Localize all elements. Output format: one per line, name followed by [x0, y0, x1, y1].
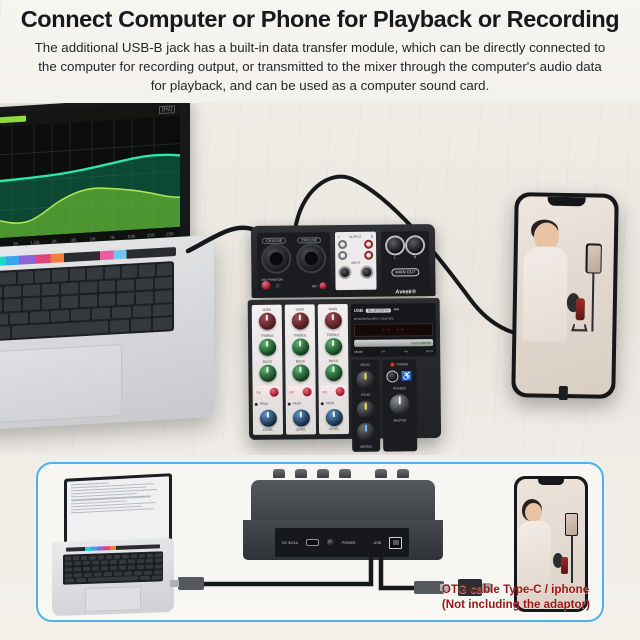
usb-strip-text: MP3/USB/SD INPUT /SUB REC	[354, 316, 433, 321]
mic-indicator	[319, 282, 326, 289]
trs-jack-r[interactable]	[360, 266, 373, 279]
main-out-label-r: R	[414, 255, 416, 259]
repeat-knob[interactable]	[357, 423, 375, 441]
knob-label: TREBLE	[320, 333, 346, 337]
peak-led-ch1	[255, 402, 258, 405]
rca-jack-in-l[interactable]	[338, 251, 347, 260]
gain-knob-ch1[interactable]	[258, 313, 275, 330]
usb-label: USB	[354, 308, 363, 313]
knob-label: BASS	[254, 360, 280, 364]
rca-connector-panel: L OUTPUT R INPUT	[335, 232, 377, 290]
phone-screen	[515, 196, 614, 395]
mixer-control-surface: GAIN TREBLE BASS FX PEAK LEVEL GAIN TREB…	[248, 298, 441, 440]
channel-strip-1: GAIN TREBLE BASS FX PEAK LEVEL	[252, 305, 283, 435]
treble-knob-ch2[interactable]	[292, 338, 309, 355]
channel-strip-2: GAIN TREBLE BASS FX PEAK LEVEL	[285, 304, 316, 434]
phantom-led	[275, 284, 279, 288]
prev-label: |<<	[381, 350, 385, 354]
echo-label: ECHO	[361, 393, 370, 397]
phones-label: PHONES	[393, 386, 406, 390]
knob-label: GAIN	[320, 307, 346, 311]
fx-button-ch1[interactable]	[270, 388, 279, 397]
knob-label: TREBLE	[287, 333, 313, 337]
power-led	[391, 362, 395, 366]
level-label: LEVEL	[288, 427, 314, 431]
delay-label: DELAY	[361, 363, 371, 367]
phone-cable-connector	[559, 386, 568, 400]
phone-stand-pole	[591, 273, 594, 331]
studio-microphone	[566, 293, 587, 341]
connection-diagram-callout: DC 5V/1A POWER USB	[36, 462, 604, 622]
mode-label: MODE	[354, 350, 362, 354]
lcd-display: -- --	[354, 323, 433, 337]
knob-label: TREBLE	[254, 334, 280, 338]
person-body	[522, 246, 568, 342]
fx-label: FX	[323, 390, 327, 394]
peak-label: PEAK	[293, 401, 302, 405]
treble-knob-ch1[interactable]	[259, 339, 276, 356]
brand-logo: Aveek®	[395, 289, 416, 295]
xlr-combo-jacks: CH1/LINE CH2/LINE 48V PHANTOM MIC	[257, 232, 331, 291]
usb-bluetooth-module: USB BLUETOOTH ⚯ MP3/USB/SD INPUT /SUB RE…	[351, 303, 437, 357]
fx-button-cell-ch3: FX	[321, 385, 347, 398]
level-label: LEVEL	[321, 427, 347, 431]
bluetooth-chip-label: BLUETOOTH	[366, 308, 391, 312]
rca-jack-out-r[interactable]	[364, 240, 373, 249]
main-out-label: MAIN OUT	[391, 268, 420, 276]
header: Connect Computer or Phone for Playback o…	[0, 0, 640, 103]
fx-label: FX	[290, 390, 294, 394]
phantom-power-button[interactable]	[261, 281, 270, 290]
otg-caption: OTG cable Type-C / iphone (Not including…	[442, 582, 590, 612]
xlr-jack-ch1[interactable]	[261, 244, 291, 274]
slot-label: miniUSB/SD	[411, 341, 431, 345]
bass-knob-ch1[interactable]	[259, 365, 276, 382]
mic-body	[576, 298, 585, 320]
lcd-value: -- --	[382, 326, 405, 333]
mic-tripod	[571, 324, 588, 331]
main-out-panel: L R MAIN OUT Aveek® F-4A	[381, 231, 430, 289]
trs-jack-l[interactable]	[338, 266, 351, 279]
person-figure	[522, 222, 570, 343]
play-label: PLAY	[426, 349, 433, 353]
level-knob-ch3[interactable]	[325, 409, 342, 426]
rca-jack-out-l[interactable]	[338, 240, 347, 249]
otg-caption-line1: OTG cable Type-C / iphone	[442, 582, 590, 597]
knob-label: BASS	[320, 359, 346, 363]
peak-label: PEAK	[260, 402, 269, 406]
smartphone-preview	[511, 192, 619, 399]
knob-label: GAIN	[254, 308, 280, 312]
usb-sd-slot[interactable]: miniUSB/SD	[354, 339, 433, 347]
level-knob-ch2[interactable]	[292, 409, 309, 426]
rca-jack-in-r[interactable]	[364, 251, 373, 260]
page-description: The additional USB-B jack has a built-in…	[30, 38, 610, 95]
level-label: LEVEL	[255, 428, 281, 432]
peak-led-ch2	[288, 402, 291, 405]
repeat-label: REPEAT	[360, 445, 372, 449]
rca-out-label: OUTPUT	[349, 235, 361, 239]
power-label: POWER	[397, 362, 408, 366]
fx-button-ch2[interactable]	[303, 387, 312, 396]
xlr-jack-ch2[interactable]	[296, 243, 326, 273]
mini-phone-on-stand	[585, 243, 602, 273]
main-out-jack-l[interactable]	[385, 235, 405, 255]
level-knob-ch1[interactable]	[259, 410, 276, 427]
delay-knob[interactable]	[356, 371, 374, 389]
treble-knob-ch3[interactable]	[325, 338, 342, 355]
fx-label: FX	[257, 390, 261, 394]
mixer-rear-connector-panel: CH1/LINE CH2/LINE 48V PHANTOM MIC L OUTP…	[251, 224, 436, 298]
fx-button-cell-ch1: FX	[255, 386, 281, 399]
phone-notch	[548, 197, 586, 207]
peak-label: PEAK	[326, 401, 335, 405]
channel-strip-3: GAIN TREBLE BASS FX PEAK LEVEL	[318, 304, 349, 434]
next-label: >>|	[404, 349, 408, 353]
rca-in-label: INPUT	[338, 261, 373, 265]
fx-button-cell-ch2: FX	[288, 385, 314, 398]
echo-knob[interactable]	[357, 401, 375, 419]
usb-icon: ⚯	[394, 306, 399, 313]
main-product-photo: 180° [Hz]	[0, 103, 640, 455]
knob-label: BASS	[287, 359, 313, 363]
peak-led-ch3	[321, 402, 324, 405]
headphone-jack[interactable]	[386, 370, 398, 382]
headphones-icon: ♿	[401, 372, 412, 381]
page-title: Connect Computer or Phone for Playback o…	[0, 6, 640, 33]
otg-caption-line2: (Not including the adaptor)	[442, 597, 590, 612]
master-output-panel: POWER ♿ PHONES MASTER	[382, 359, 417, 451]
mic-label: MIC	[312, 284, 318, 288]
main-out-jack-r[interactable]	[405, 235, 425, 255]
fx-control-panel: DELAY ECHO REPEAT	[351, 360, 380, 452]
audio-mixer: CH1/LINE CH2/LINE 48V PHANTOM MIC L OUTP…	[247, 224, 441, 441]
main-out-label-l: L	[394, 255, 396, 259]
gain-knob-ch2[interactable]	[291, 312, 308, 329]
knob-label: GAIN	[287, 307, 313, 311]
bass-knob-ch3[interactable]	[325, 364, 342, 381]
fx-button-ch3[interactable]	[336, 387, 345, 396]
gain-knob-ch3[interactable]	[324, 312, 341, 329]
bass-knob-ch2[interactable]	[292, 364, 309, 381]
master-label: MASTER	[394, 418, 407, 422]
master-volume-knob[interactable]	[390, 394, 410, 414]
